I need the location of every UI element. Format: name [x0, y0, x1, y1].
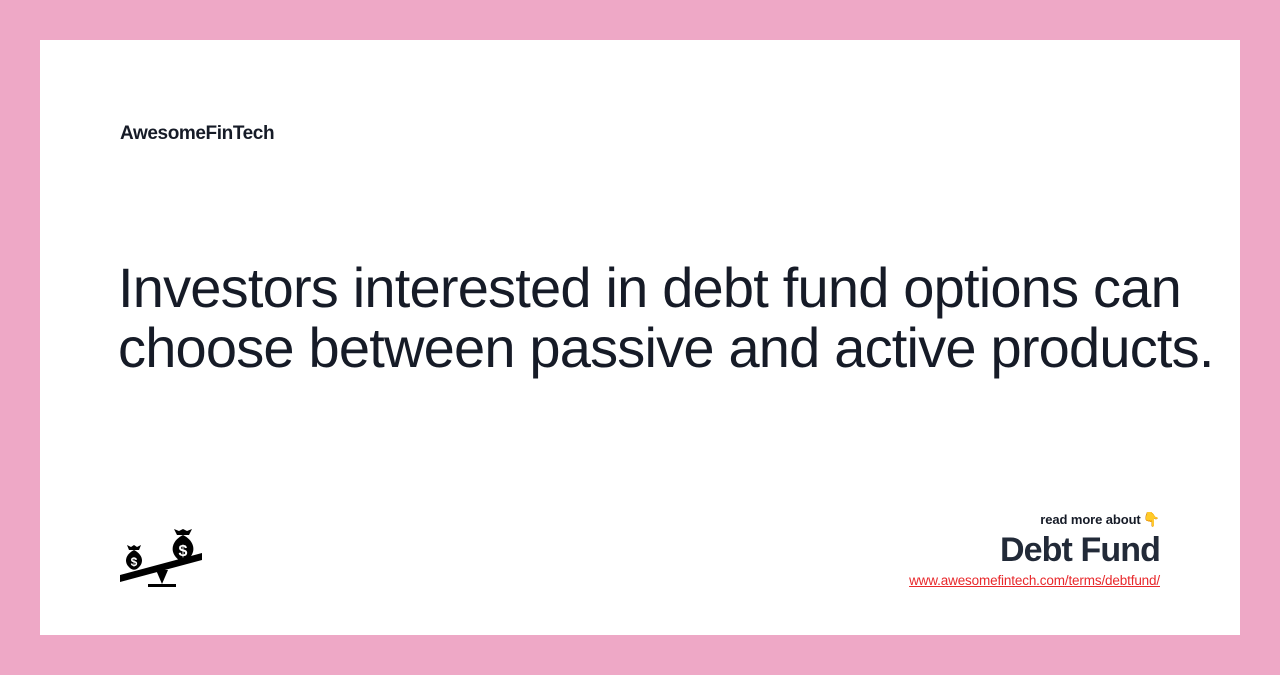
svg-text:$: $ — [131, 555, 138, 569]
read-more-label: read more about👇 — [740, 510, 1160, 529]
brand-logo: AwesomeFinTech — [120, 122, 274, 146]
read-more-text: read more about — [1040, 512, 1140, 527]
content-card: AwesomeFinTech Investors interested in d… — [40, 40, 1240, 635]
svg-text:$: $ — [179, 543, 188, 560]
card-footer: $ $ read more about👇 Debt Fund www.aweso… — [118, 510, 1200, 590]
term-link-block[interactable]: read more about👇 Debt Fund www.awesomefi… — [740, 510, 1160, 590]
pointing-down-hand-icon: 👇 — [1143, 511, 1160, 527]
term-title: Debt Fund — [740, 529, 1160, 571]
balance-scale-money-bags-icon: $ $ — [118, 528, 204, 588]
page-title: Investors interested in debt fund option… — [118, 258, 1228, 378]
term-url-link[interactable]: www.awesomefintech.com/terms/debtfund/ — [909, 572, 1160, 590]
